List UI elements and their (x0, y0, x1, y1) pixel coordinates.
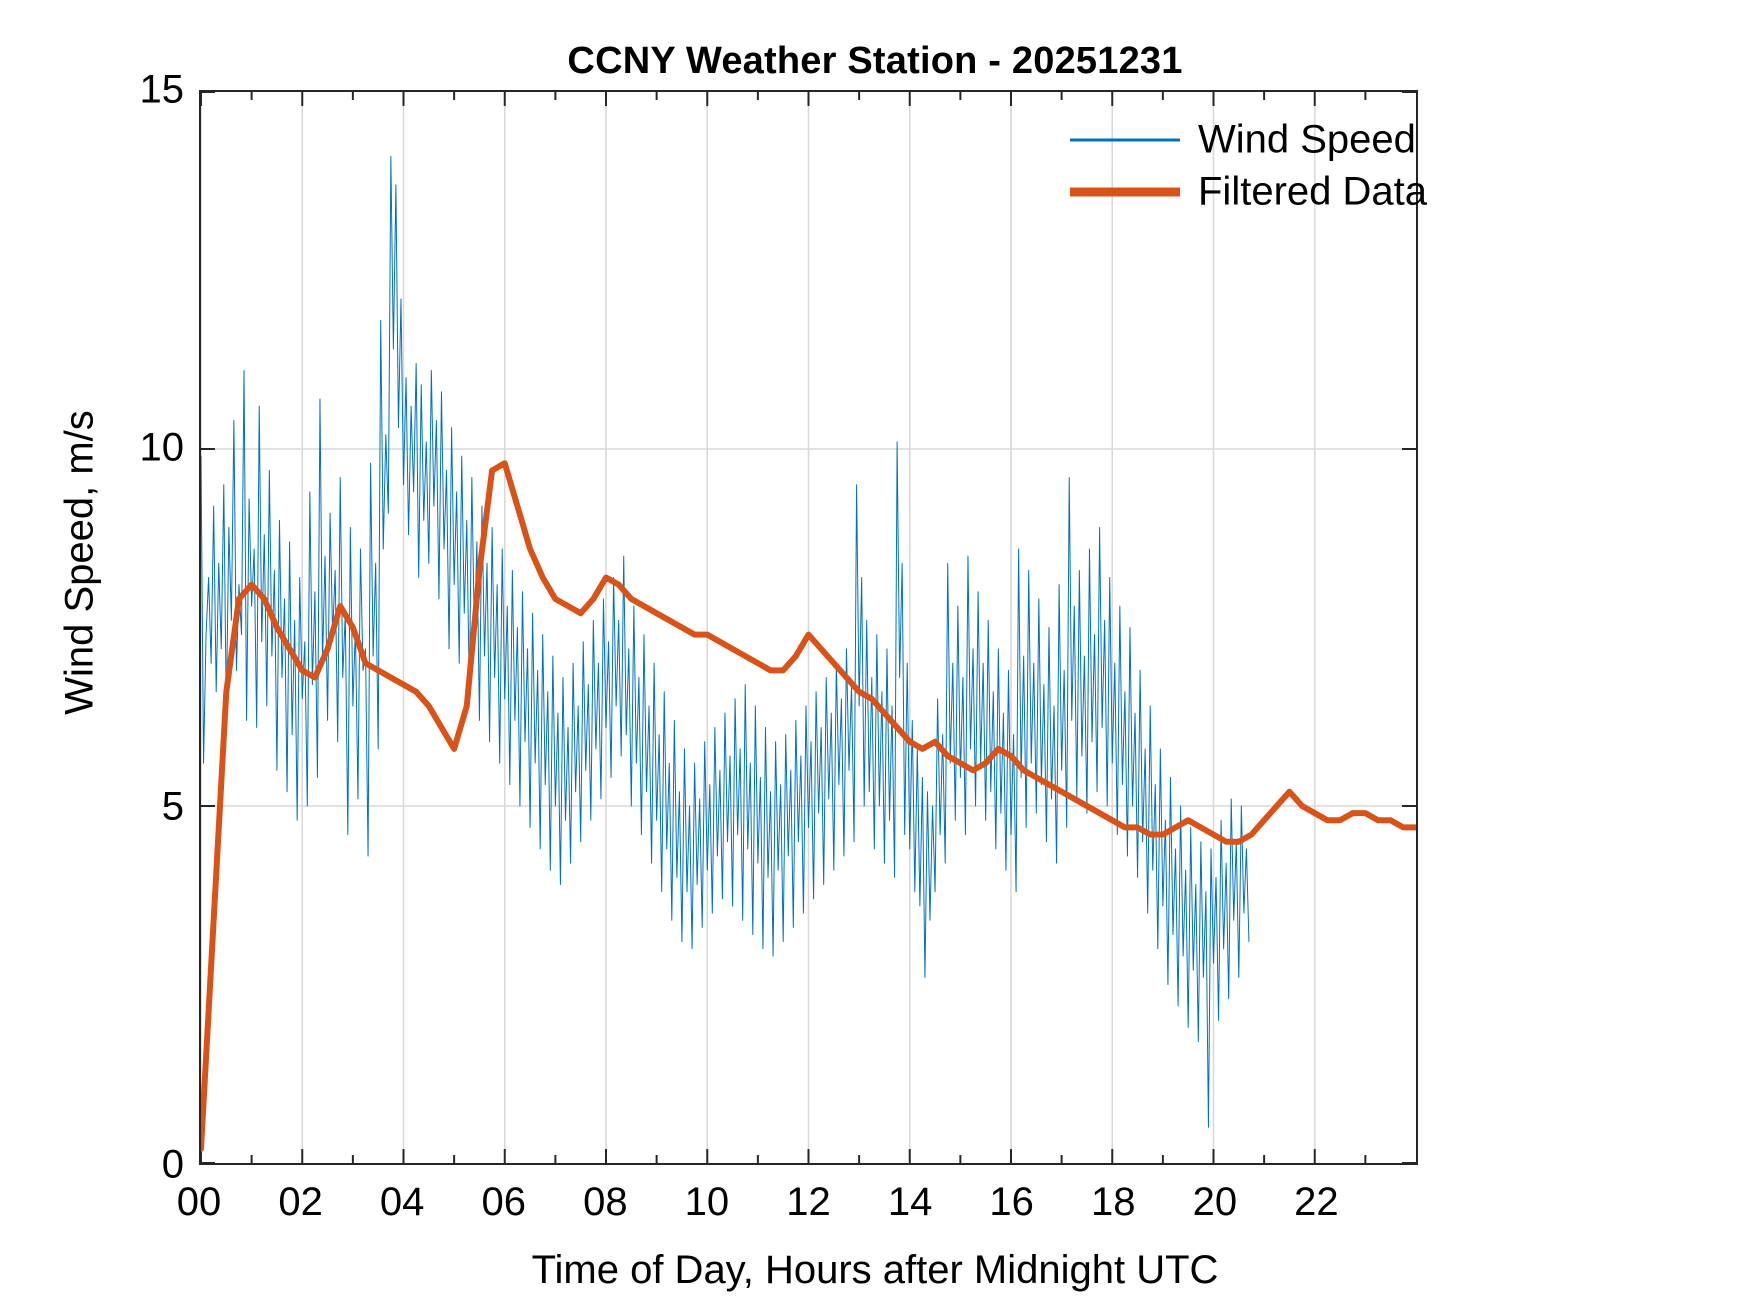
series-layer (201, 92, 1416, 1163)
x-tick-label: 22 (1256, 1180, 1376, 1225)
chart-title: CCNY Weather Station - 20251231 (0, 40, 1750, 83)
legend-item-filtered-data[interactable]: Filtered Data (1070, 167, 1410, 217)
y-axis-label: Wind Speed, m/s (58, 63, 103, 1063)
plot-area (199, 90, 1418, 1165)
chart-figure: CCNY Weather Station - 20251231 051015 0… (0, 0, 1750, 1313)
x-axis-label: Time of Day, Hours after Midnight UTC (0, 1248, 1750, 1293)
chart-legend: Wind Speed Filtered Data (1070, 115, 1410, 215)
legend-line-filtered-data (1070, 186, 1180, 198)
legend-label-wind-speed: Wind Speed (1198, 118, 1416, 163)
legend-line-wind-speed (1070, 135, 1180, 145)
legend-label-filtered-data: Filtered Data (1198, 170, 1427, 215)
legend-item-wind-speed[interactable]: Wind Speed (1070, 115, 1410, 165)
